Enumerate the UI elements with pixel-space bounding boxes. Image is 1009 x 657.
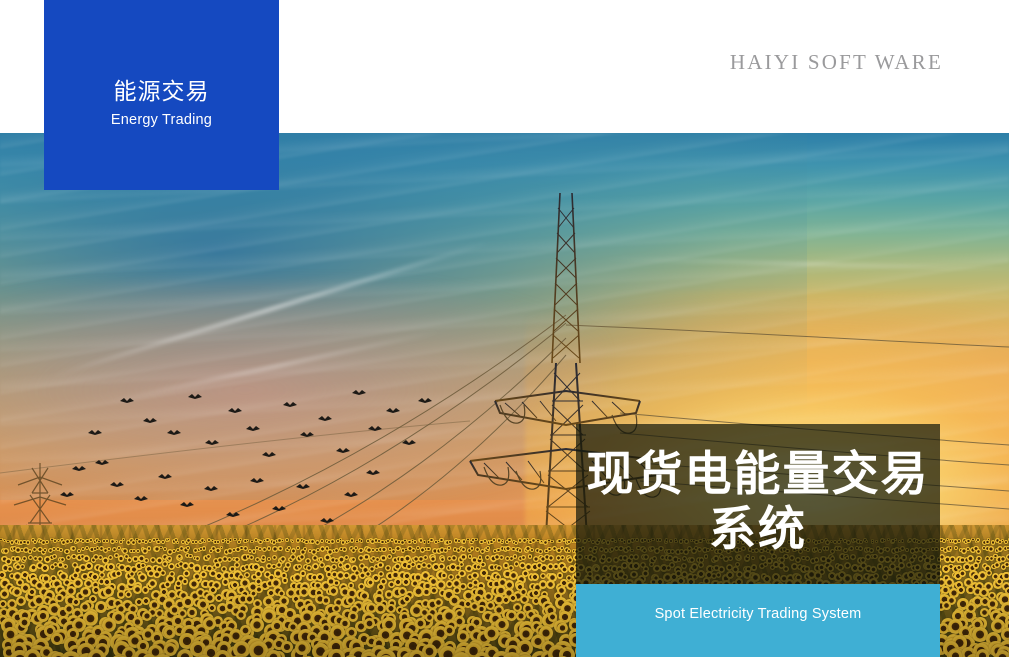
- category-title-cn: 能源交易: [44, 72, 279, 106]
- category-title-en: Energy Trading: [44, 112, 279, 128]
- category-badge[interactable]: 能源交易 Energy Trading: [44, 0, 279, 190]
- hero-subtitle-en: Spot Electricity Trading System: [576, 606, 940, 622]
- poster-canvas: HAIYI SOFT WARE 能源交易 Energy Trading 现货电能…: [0, 0, 1009, 657]
- hero-title-panel: 现货电能量交易系统: [576, 424, 940, 584]
- brand-wordmark: HAIYI SOFT WARE: [730, 50, 943, 75]
- hero-subtitle-band: Spot Electricity Trading System: [576, 584, 940, 657]
- hero-title-cn: 现货电能量交易系统: [576, 446, 940, 556]
